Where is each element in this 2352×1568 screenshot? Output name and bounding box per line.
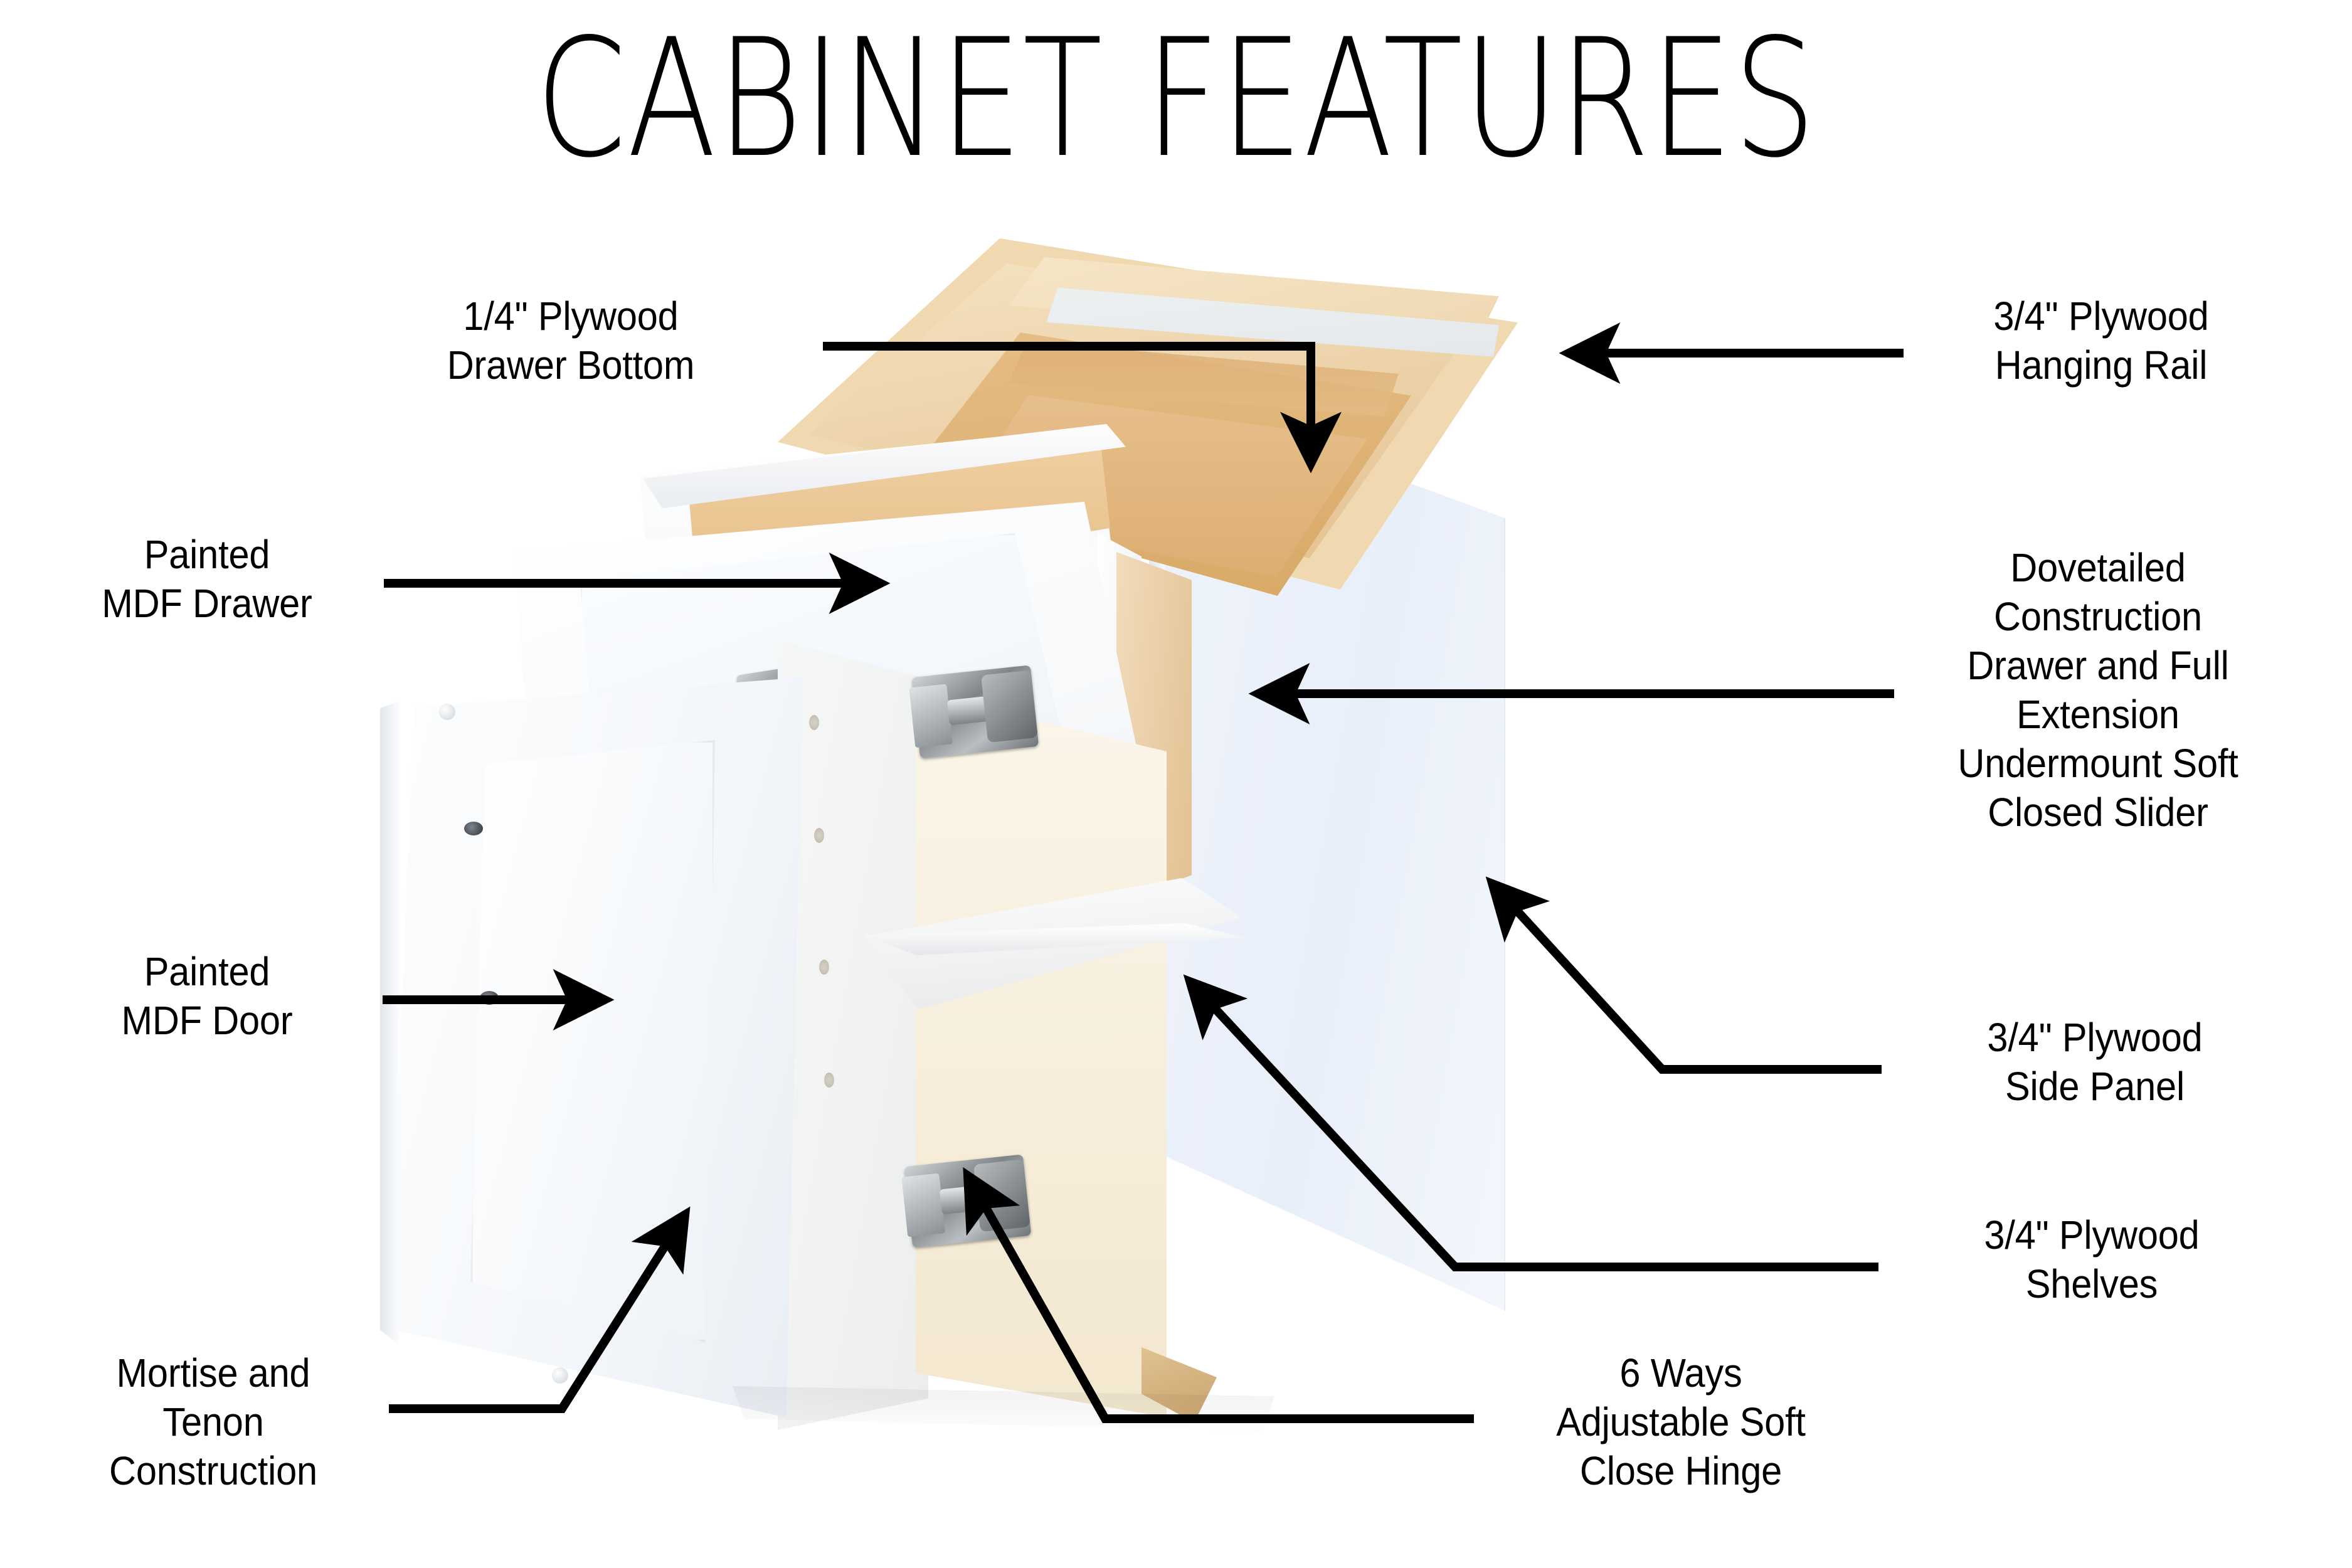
shelf-pin-hole	[814, 828, 824, 843]
cabinet-door-edge	[380, 679, 399, 1419]
soft-close-hinge-top	[912, 665, 1039, 758]
callout-side-panel: 3/4" Plywood Side Panel	[1908, 1013, 2281, 1111]
door-bumper	[552, 1367, 568, 1384]
shelf-pin-hole	[809, 715, 819, 730]
cabinet-interior-back	[916, 677, 1167, 1417]
callout-drawer-bottom: 1/4" Plywood Drawer Bottom	[390, 292, 752, 389]
callout-soft-close-hinge: 6 Ways Adjustable Soft Close Hinge	[1500, 1348, 1862, 1495]
page-title: CABINET FEATURES	[235, 18, 2117, 181]
hinge-mounting-plate	[901, 1173, 945, 1237]
callout-hanging-rail: 3/4" Plywood Hanging Rail	[1914, 292, 2287, 389]
hinge-cup	[981, 670, 1038, 743]
callout-painted-mdf-door: Painted MDF Door	[44, 947, 371, 1045]
callout-painted-mdf-drawer: Painted MDF Drawer	[44, 530, 371, 628]
soft-close-hinge-bottom	[904, 1154, 1032, 1248]
door-bumper	[439, 704, 455, 720]
shelf-pin-hole	[824, 1073, 834, 1088]
callout-mortise-tenon: Mortise and Tenon Construction	[50, 1348, 377, 1495]
callout-shelves: 3/4" Plywood Shelves	[1902, 1210, 2282, 1308]
infographic-canvas: CABINET FEATURES	[0, 0, 2352, 1568]
cabinet-photo	[514, 238, 1643, 1455]
shelf-pin-hole	[819, 960, 829, 975]
door-hinge-screw	[464, 822, 483, 835]
cabinet-door-panel	[470, 740, 715, 1342]
door-hinge-screw	[480, 991, 499, 1005]
hinge-mounting-plate	[909, 684, 953, 748]
hinge-cup	[973, 1159, 1030, 1232]
callout-dovetailed-construction: Dovetailed Construction Drawer and Full …	[1902, 543, 2293, 837]
